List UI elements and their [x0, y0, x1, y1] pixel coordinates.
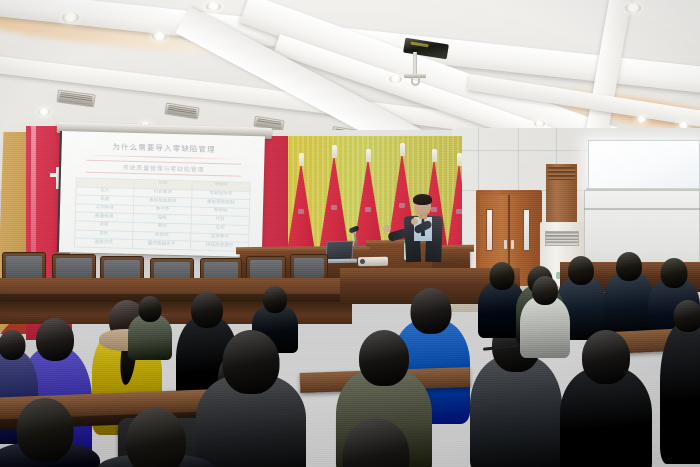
- attendee-black-puffer: [560, 330, 652, 467]
- attendee-torso: [660, 322, 700, 464]
- attendee-front-left: [0, 398, 100, 467]
- attendee-head: [223, 330, 280, 394]
- attendee-head: [674, 300, 700, 332]
- attendee-head: [359, 330, 409, 386]
- attendee-front-dark-hair: [312, 418, 440, 467]
- attendee-head: [343, 418, 410, 467]
- audience-front-row: [0, 0, 700, 467]
- attendee-head: [17, 398, 74, 462]
- attendee-head: [582, 330, 630, 384]
- attendee-head: [126, 408, 186, 467]
- attendee-right-edge: [660, 300, 700, 460]
- attendee-front-mid: [98, 408, 214, 467]
- conference-room-photo: 为什么需要导入零缺陷管理 传统质量管理与零缺陷管理 传统零缺陷 定义符合要求零缺…: [0, 0, 700, 467]
